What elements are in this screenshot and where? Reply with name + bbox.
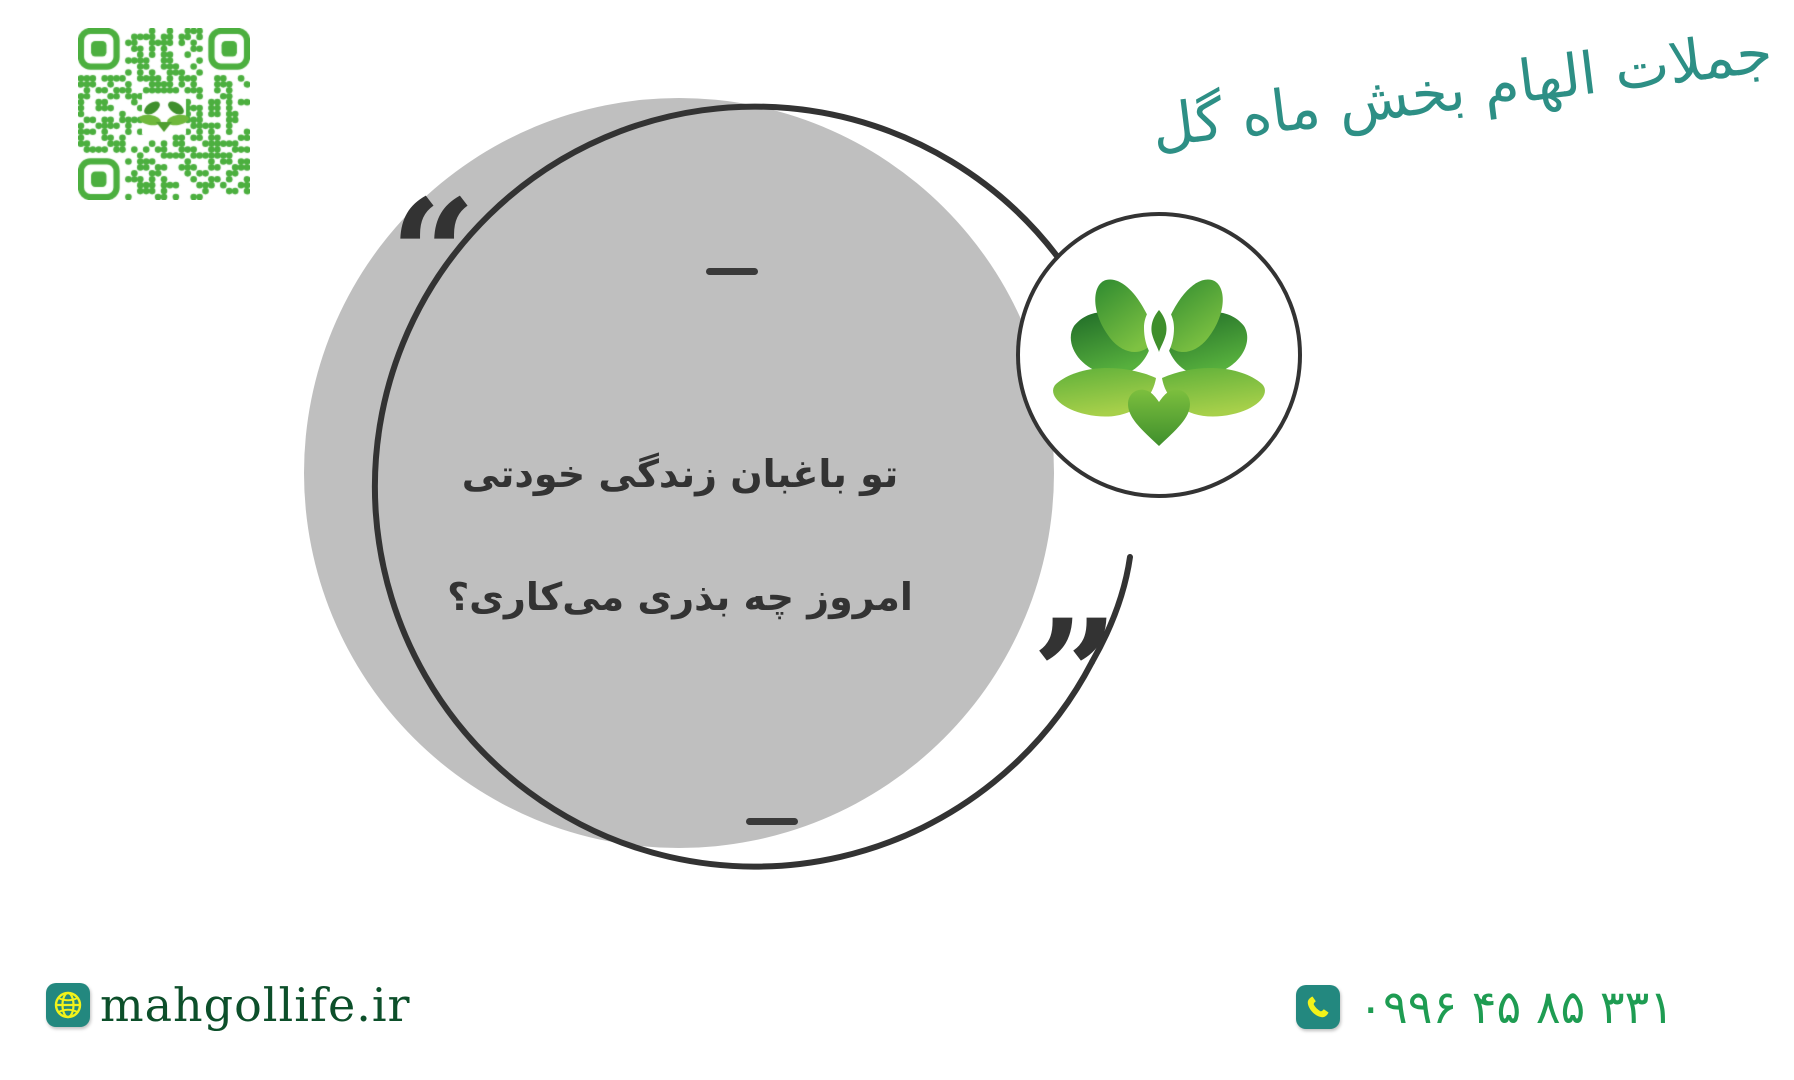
heart-leaf [1128, 390, 1190, 446]
divider-dash-top [706, 268, 758, 275]
quote-open-mark: “ [390, 180, 476, 330]
quote-text: تو باغبان زندگی خودتی امروز چه بذری می‌ک… [380, 455, 980, 616]
logo-badge[interactable] [1016, 212, 1302, 498]
phone-number[interactable]: ۰۹۹۶ ۴۵ ۸۵ ۳۳۱ [1296, 984, 1674, 1030]
divider-dash-bottom [746, 818, 798, 825]
website-link[interactable]: mahgollife.ir [46, 982, 411, 1028]
phone-icon [1296, 985, 1340, 1029]
globe-icon [46, 983, 90, 1027]
mahgol-leaf-logo-icon [1044, 250, 1274, 460]
phone-label: ۰۹۹۶ ۴۵ ۸۵ ۳۳۱ [1358, 984, 1674, 1030]
website-label: mahgollife.ir [100, 982, 411, 1028]
qr-code-image [78, 28, 250, 200]
quote-close-mark: ” [1032, 600, 1118, 750]
qr-code[interactable] [78, 28, 250, 200]
quote-line-2: امروز چه بذری می‌کاری؟ [380, 578, 980, 616]
quote-line-1: تو باغبان زندگی خودتی [380, 455, 980, 493]
